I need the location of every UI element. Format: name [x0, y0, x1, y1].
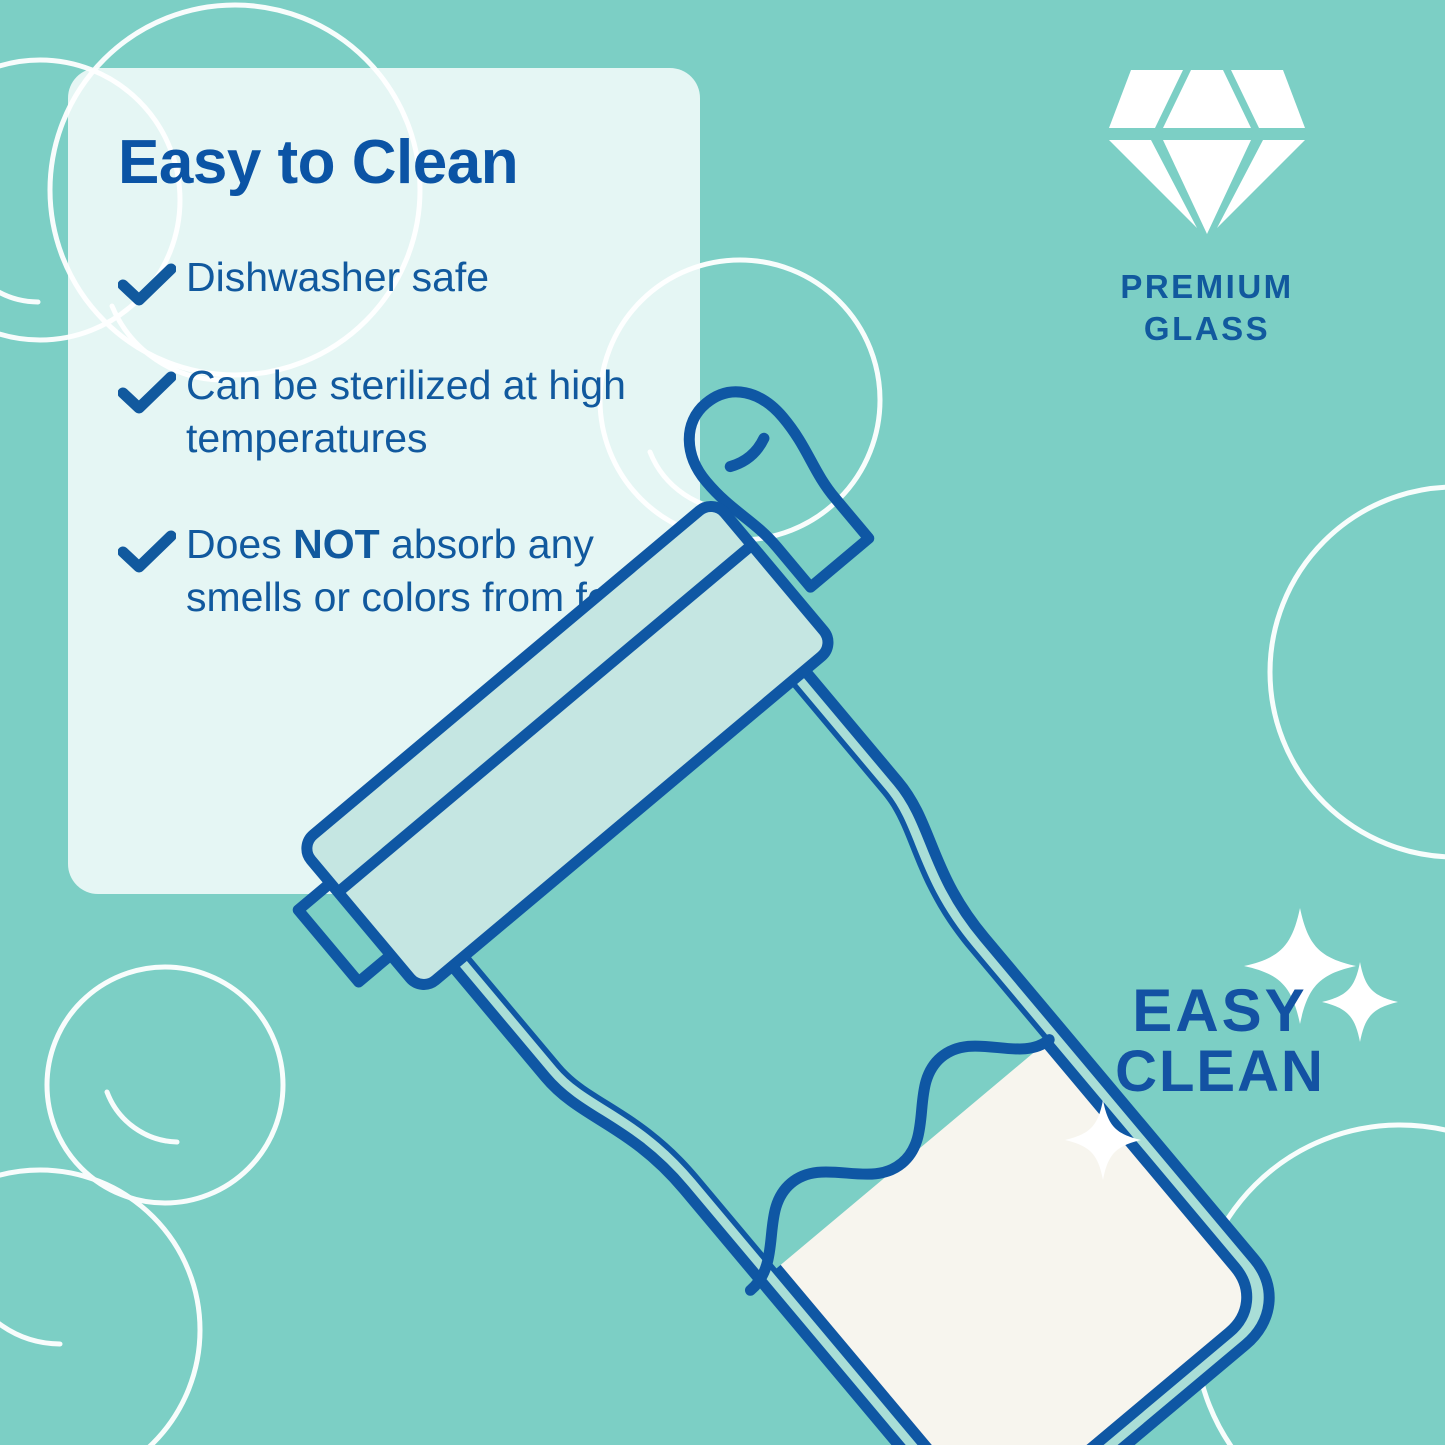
infographic-canvas: Easy to Clean Dishwasher safe Can be ste…	[0, 0, 1445, 1445]
easy-clean-line-1: EASY	[1075, 980, 1365, 1041]
easy-clean-line-2: CLEAN	[1075, 1041, 1365, 1102]
premium-glass-label: PREMIUM GLASS	[1092, 266, 1322, 349]
premium-glass-badge: PREMIUM GLASS	[1092, 52, 1322, 349]
diamond-icon	[1107, 52, 1307, 252]
badge-label-line-2: GLASS	[1092, 308, 1322, 350]
badge-label-line-1: PREMIUM	[1092, 266, 1322, 308]
easy-clean-badge: EASY CLEAN	[1075, 980, 1365, 1103]
nipple-detail-line	[730, 438, 767, 470]
